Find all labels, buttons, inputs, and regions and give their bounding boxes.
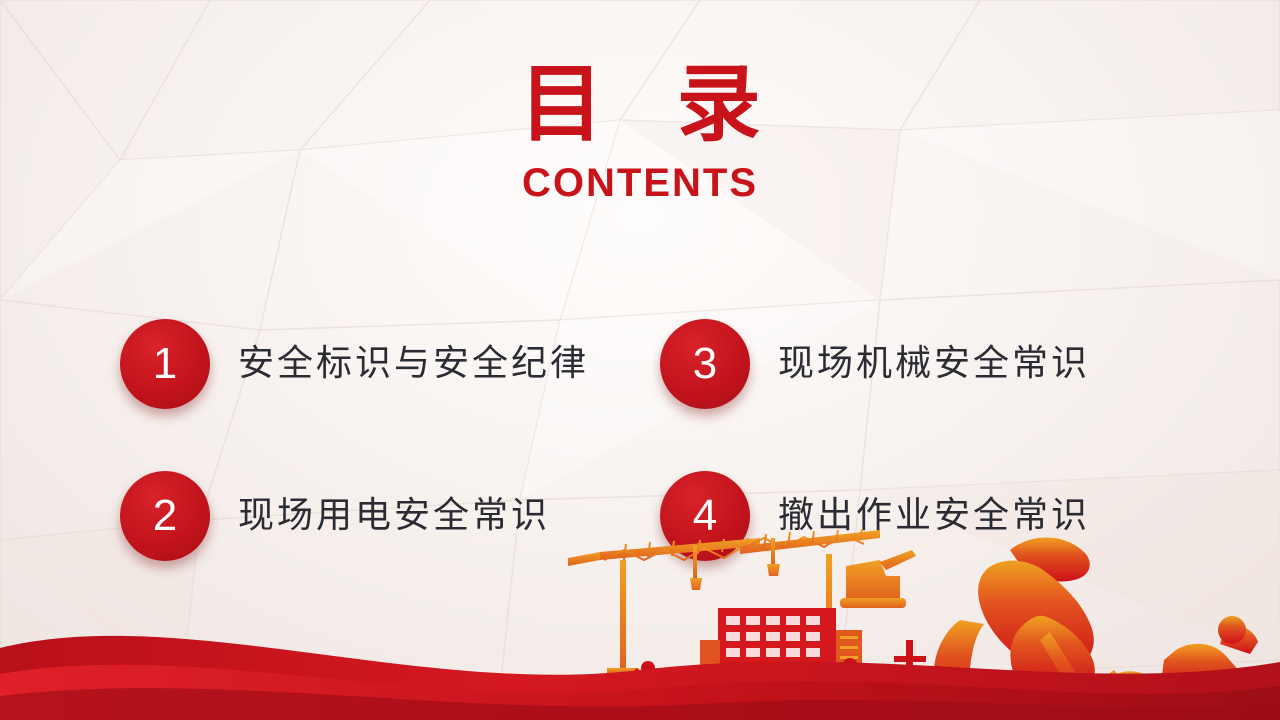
contents-list: 1 安全标识与安全纪律 3 现场机械安全常识 2 现场用电安全常识 4 撤出作业… <box>120 288 1195 592</box>
item-number-badge: 3 <box>660 319 750 409</box>
item-label: 安全标识与安全纪律 <box>238 342 589 386</box>
item-number-badge: 4 <box>660 471 750 561</box>
item-label: 现场用电安全常识 <box>238 494 550 538</box>
item-number: 1 <box>153 342 177 386</box>
item-label: 撤出作业安全常识 <box>778 494 1090 538</box>
red-ribbon-icon <box>0 600 1280 720</box>
item-number: 4 <box>693 494 717 538</box>
title-block: 目 录 CONTENTS <box>0 54 1280 206</box>
item-number: 3 <box>693 342 717 386</box>
list-item[interactable]: 3 现场机械安全常识 <box>660 288 1195 440</box>
list-item[interactable]: 2 现场用电安全常识 <box>120 440 660 592</box>
item-number-badge: 2 <box>120 471 210 561</box>
list-item[interactable]: 4 撤出作业安全常识 <box>660 440 1195 592</box>
item-label: 现场机械安全常识 <box>778 342 1090 386</box>
item-number: 2 <box>153 494 177 538</box>
slide-canvas: 目 录 CONTENTS 1 安全标识与安全纪律 3 现场机械安全常识 2 现场… <box>0 0 1280 720</box>
page-subtitle: CONTENTS <box>0 160 1280 206</box>
page-title: 目 录 <box>0 54 1280 154</box>
list-item[interactable]: 1 安全标识与安全纪律 <box>120 288 660 440</box>
item-number-badge: 1 <box>120 319 210 409</box>
